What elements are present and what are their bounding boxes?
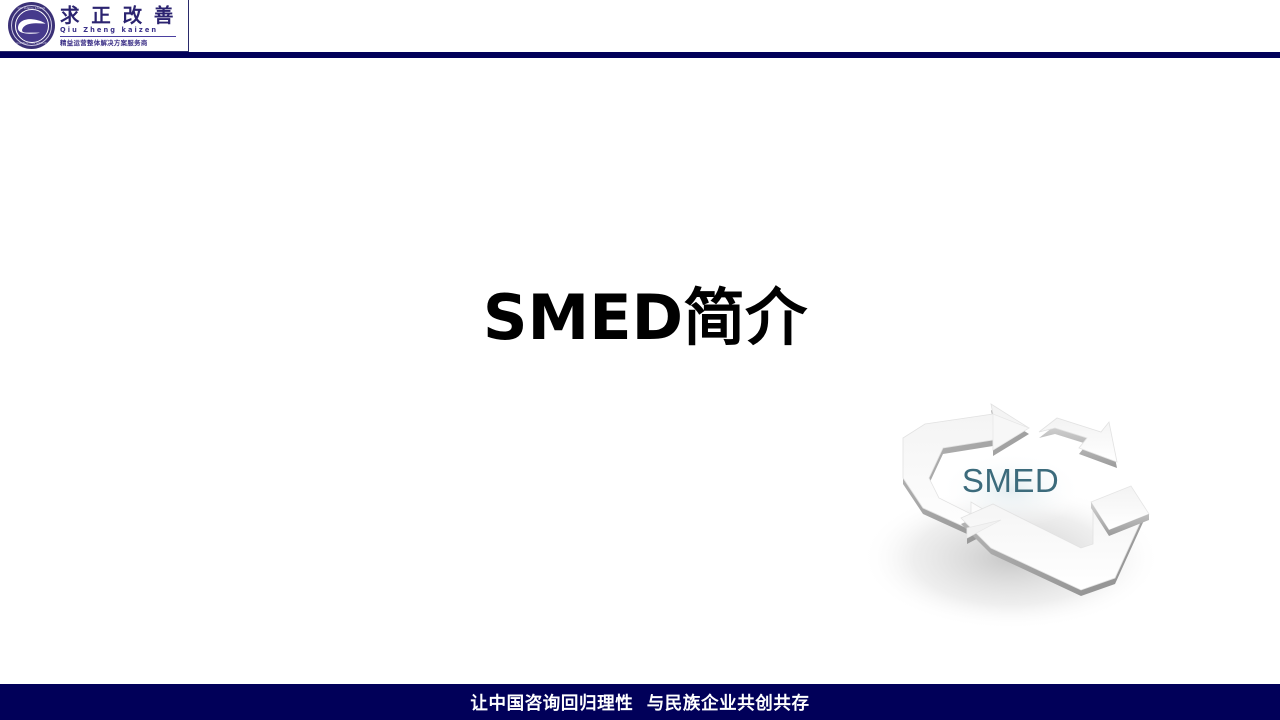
seal-swoosh-icon [16, 17, 47, 34]
company-seal-emblem: QIU ZHENG KAIZEN CONSULTING GROUP [8, 2, 55, 49]
smed-label-layer: SMED [843, 0, 1178, 235]
company-tagline: 精益运营整体解决方案服务商 [60, 39, 176, 47]
smed-cycle-diagram [843, 398, 1178, 633]
company-wordmark: 求 正 改 善 Qiu Zheng kaizen 精益运营整体解决方案服务商 [60, 4, 176, 47]
page-title: SMED简介 [0, 282, 1280, 354]
company-logo: QIU ZHENG KAIZEN CONSULTING GROUP 求 正 改 … [0, 0, 189, 52]
wordmark-divider [60, 36, 176, 37]
slide-footer: 让中国咨询回归理性 与民族企业共创共存 [0, 684, 1280, 720]
footer-slogan: 让中国咨询回归理性 与民族企业共创共存 [470, 690, 809, 715]
company-name-cn: 求 正 改 善 [60, 5, 176, 26]
smed-cycle-svg [843, 398, 1178, 633]
slide: QIU ZHENG KAIZEN CONSULTING GROUP 求 正 改 … [0, 0, 1280, 720]
company-name-pinyin: Qiu Zheng kaizen [60, 26, 176, 35]
